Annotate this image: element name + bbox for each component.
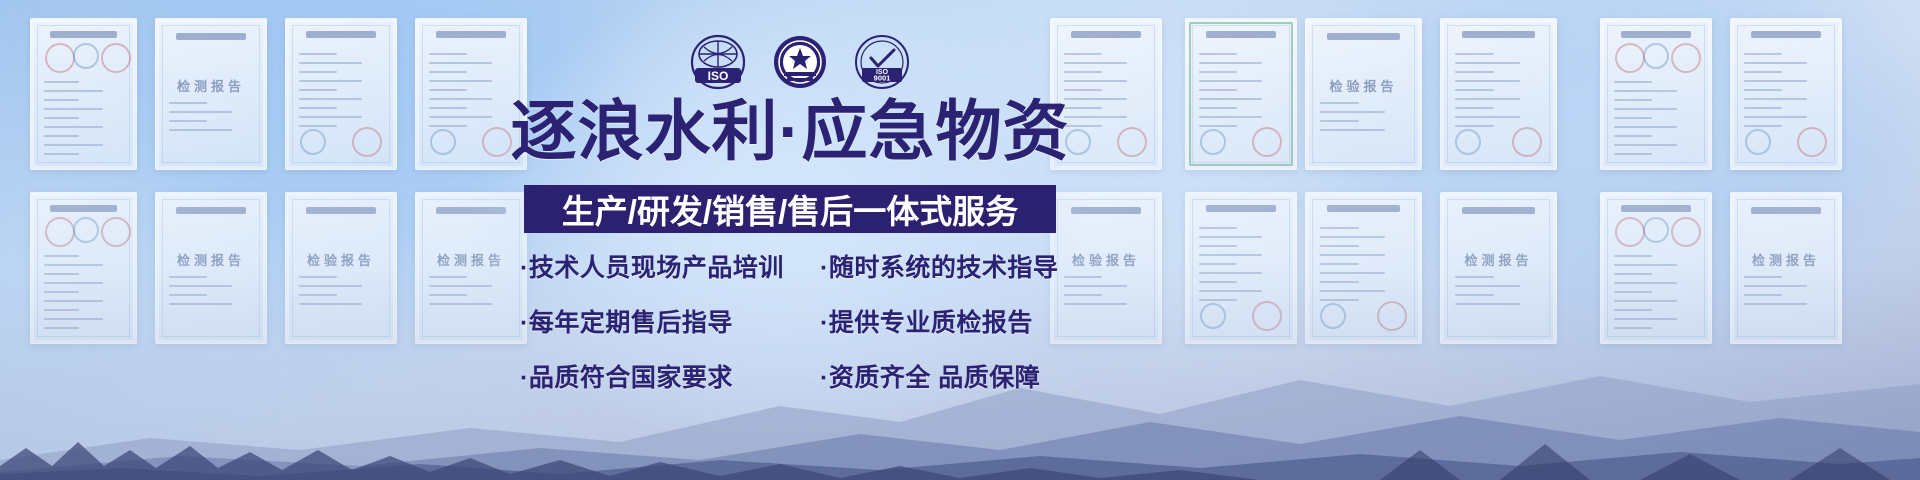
banner-content: 逐浪水利·应急物资 生产/研发/销售/售后一体式服务 ·技术人员现场产品培训·随… (0, 0, 1920, 480)
promo-banner: 检测报告检测报告检验报告检测报告检验报告检验报告检测报告检测报告 (0, 0, 1920, 480)
feature-bullet-item: ·资质齐全 品质保障 (820, 358, 1065, 394)
banner-title: 逐浪水利·应急物资 (510, 95, 1070, 167)
feature-bullet-item: ·技术人员现场产品培训 (520, 248, 810, 284)
feature-bullet-list: ·技术人员现场产品培训·随时系统的技术指导·每年定期售后指导·提供专业质检报告·… (520, 248, 1065, 413)
feature-bullet-item: ·提供专业质检报告 (820, 303, 1065, 339)
feature-bullet-row: ·品质符合国家要求·资质齐全 品质保障 (520, 358, 1065, 394)
banner-subtitle: 生产/研发/销售/售后一体式服务 (562, 185, 1019, 233)
feature-bullet-item: ·随时系统的技术指导 (820, 248, 1065, 284)
feature-bullet-item: ·品质符合国家要求 (520, 358, 810, 394)
banner-subtitle-bar: 生产/研发/销售/售后一体式服务 (524, 185, 1056, 233)
feature-bullet-row: ·技术人员现场产品培训·随时系统的技术指导 (520, 248, 1065, 284)
feature-bullet-item: ·每年定期售后指导 (520, 303, 810, 339)
feature-bullet-row: ·每年定期售后指导·提供专业质检报告 (520, 303, 1065, 339)
